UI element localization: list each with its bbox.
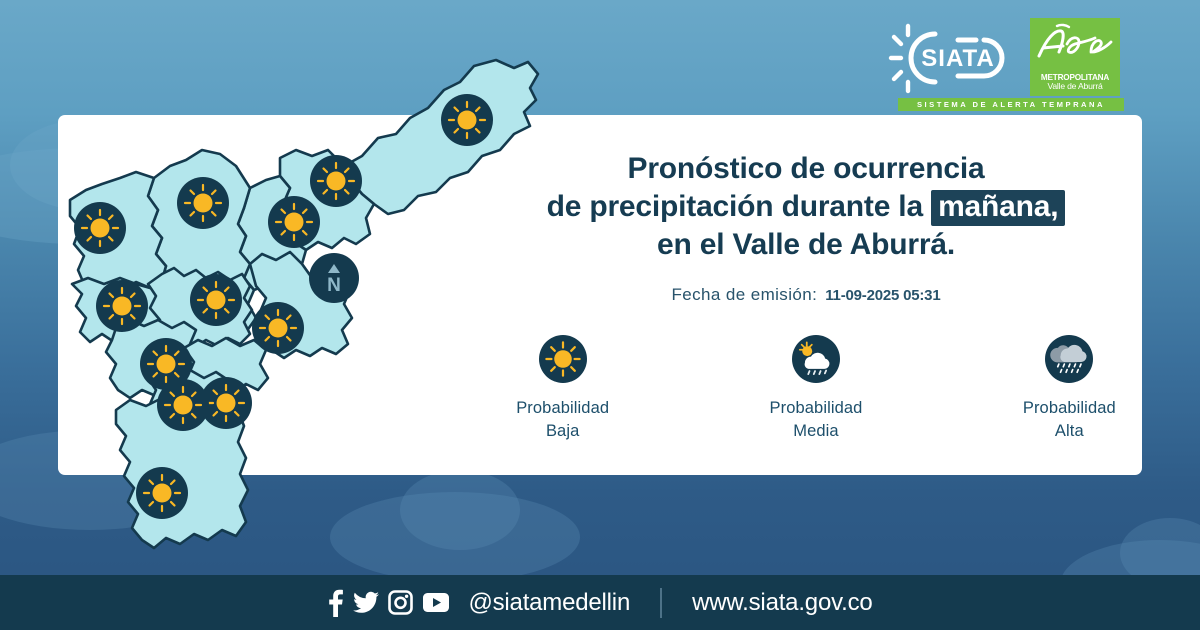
social-icons — [327, 589, 450, 617]
issue-date-label: Fecha de emisión: — [672, 285, 818, 305]
issue-date-value: 11-09-2025 05:31 — [825, 287, 940, 304]
cloud-heavy-rain-icon — [1045, 335, 1093, 383]
area-handwriting-icon — [1033, 22, 1117, 64]
legend-label-baja: Probabilidad Baja — [490, 397, 635, 443]
legend-label-media-line1: Probabilidad — [743, 397, 888, 420]
facebook-icon[interactable] — [327, 589, 344, 617]
station-badge-barbosa[interactable] — [441, 94, 493, 146]
sun-icon — [441, 94, 493, 146]
station-badge-san-pedro[interactable] — [177, 177, 229, 229]
area-script-wordmark — [1030, 22, 1120, 64]
instagram-icon[interactable] — [388, 590, 413, 615]
title-line-3: en el Valle de Aburrá. — [470, 226, 1142, 264]
forecast-title: Pronóstico de ocurrencia de precipitació… — [470, 150, 1142, 265]
legend-label-alta-line1: Probabilidad — [997, 397, 1142, 420]
sun-icon — [268, 196, 320, 248]
title-line-1: Pronóstico de ocurrencia — [470, 150, 1142, 188]
siata-wordmark: SIATA — [921, 45, 994, 72]
siata-tagline-text: SISTEMA DE ALERTA TEMPRANA — [917, 100, 1105, 109]
legend-item-baja[interactable]: Probabilidad Baja — [490, 335, 635, 443]
legend-item-alta[interactable]: Probabilidad Alta — [997, 335, 1142, 443]
svg-text:N: N — [327, 275, 341, 296]
probability-legend: Probabilidad Baja — [470, 335, 1142, 443]
title-line-2-text: de precipitación durante la — [547, 190, 923, 223]
station-badge-envigado[interactable] — [252, 302, 304, 354]
legend-label-media: Probabilidad Media — [743, 397, 888, 443]
legend-label-baja-line1: Probabilidad — [490, 397, 635, 420]
area-logo-line2: Valle de Aburrá — [1047, 82, 1102, 92]
siata-tagline-bar: SISTEMA DE ALERTA TEMPRANA — [898, 98, 1124, 111]
station-badge-copacabana[interactable] — [268, 196, 320, 248]
station-badge-medellin[interactable] — [96, 280, 148, 332]
siata-sun-cloud-icon: SIATA — [888, 20, 1028, 96]
logo-group: SIATA METROPOLITANA Valle de Aburrá SIST… — [888, 18, 1128, 110]
siata-logo[interactable]: SIATA — [888, 20, 1028, 101]
sun-icon — [157, 379, 209, 431]
station-badge-caldas[interactable] — [136, 467, 188, 519]
legend-label-alta: Probabilidad Alta — [997, 397, 1142, 443]
sun-icon — [136, 467, 188, 519]
sun-icon — [96, 280, 148, 332]
legend-label-media-line2: Media — [743, 420, 888, 443]
footer-divider — [660, 588, 662, 618]
title-line-2: de precipitación durante la mañana, — [470, 188, 1142, 226]
footer-content: @siatamedellin www.siata.gov.co — [327, 588, 872, 618]
sun-icon — [252, 302, 304, 354]
legend-icon-wrap-alta — [997, 335, 1142, 383]
twitter-icon[interactable] — [353, 591, 379, 615]
legend-icon-wrap-baja — [490, 335, 635, 383]
compass-rose: N — [308, 252, 360, 304]
sun-icon — [74, 202, 126, 254]
station-badge-bello[interactable] — [74, 202, 126, 254]
youtube-icon[interactable] — [422, 592, 450, 613]
station-badge-medellin-norte[interactable] — [190, 274, 242, 326]
legend-item-media[interactable]: Probabilidad Media — [743, 335, 888, 443]
north-arrow-icon: N — [308, 252, 360, 304]
sun-icon — [177, 177, 229, 229]
sun-icon — [190, 274, 242, 326]
area-metropolitana-logo[interactable]: METROPOLITANA Valle de Aburrá — [1030, 18, 1120, 96]
highlight-period: mañana, — [931, 190, 1065, 226]
legend-label-baja-line2: Baja — [490, 420, 635, 443]
website-url[interactable]: www.siata.gov.co — [692, 589, 872, 617]
footer-bar: @siatamedellin www.siata.gov.co — [0, 575, 1200, 630]
forecast-panel: Pronóstico de ocurrencia de precipitació… — [470, 150, 1142, 443]
legend-icon-wrap-media — [743, 335, 888, 383]
sun-icon — [539, 335, 587, 383]
station-badge-la-estrella[interactable] — [157, 379, 209, 431]
legend-label-alta-line2: Alta — [997, 420, 1142, 443]
sun-cloud-rain-icon — [792, 335, 840, 383]
issue-date-row: Fecha de emisión: 11-09-2025 05:31 — [470, 285, 1142, 305]
social-handle[interactable]: @siatamedellin — [468, 589, 630, 617]
